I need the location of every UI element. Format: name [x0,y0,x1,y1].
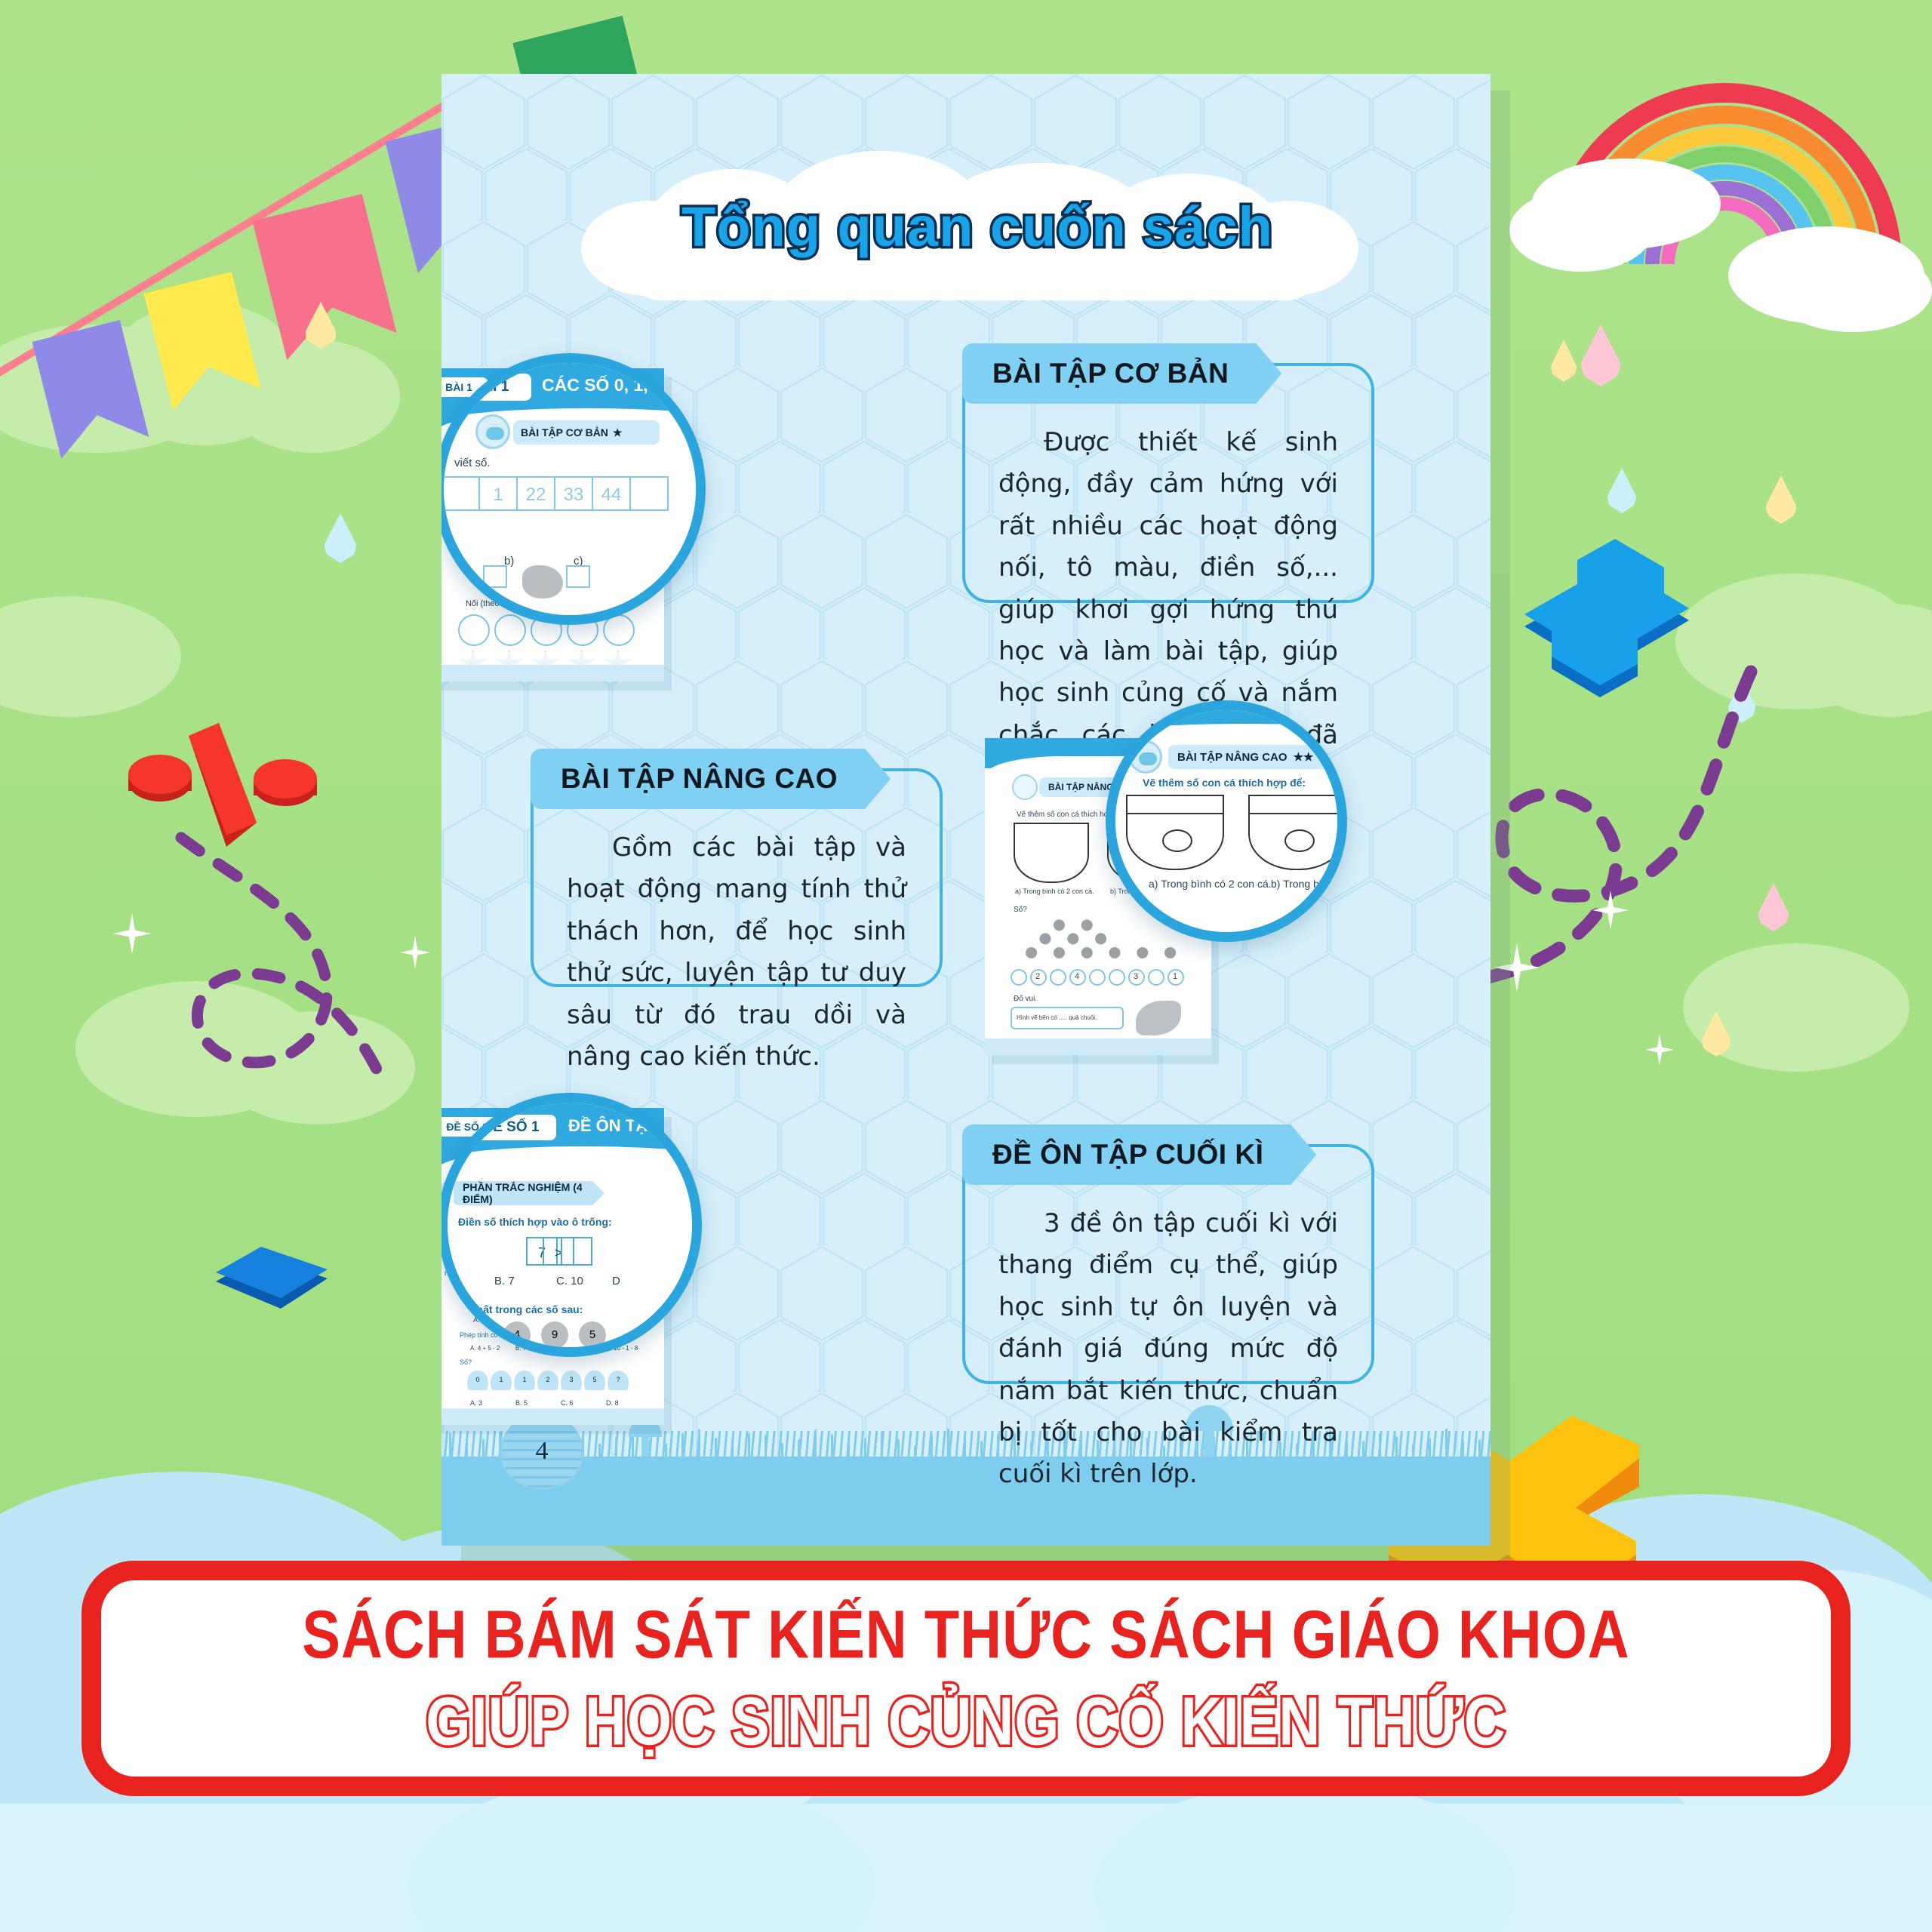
worksheet-count-circle [1050,969,1066,986]
magnified-badge: BÀI 1 [450,374,531,401]
card-tab-exam: ĐỀ ÔN TẬP CUỐI KÌ [962,1124,1316,1185]
worksheet-answer-a: a) Trong bình có 2 con cá. [1015,888,1094,895]
magnified-section: PHẦN TRẮC NGHIỆM (4 ĐIỂM) [463,1181,605,1205]
magnified-bee-mascot-icon [475,414,510,449]
magnified-task-2: nhất trong các số sau: [470,1303,583,1315]
magnified-answer-a: a) Trong bình có 2 con cá. [1149,878,1272,890]
worksheet-opt4-c: C. 6 [561,1399,574,1407]
bottom-banner: SÁCH BÁM SÁT KIẾN THỨC SÁCH GIÁO KHOA GI… [82,1561,1850,1796]
magnifier-content: BÀI 1 CÁC SỐ 0, 1, 2, BÀI TẬP CƠ BẢN ★ v… [444,363,706,625]
magnified-title: CÁC SỐ 0, 1, 2, [542,375,667,395]
magnified-task: Vẽ thêm số con cá thích hợp để: [1143,777,1306,789]
magnifier-basic: BÀI 1 CÁC SỐ 0, 1, 2, BÀI TẬP CƠ BẢN ★ v… [441,353,706,625]
magnified-number-2: 22 [516,476,555,511]
magnified-task: Điền số thích hợp vào ô trống: [458,1216,612,1228]
magnified-bee-mascot-icon [1129,740,1162,774]
card-tab-label: ĐỀ ÔN TẬP CUỐI KÌ [992,1139,1263,1171]
card-body-advanced: Gồm các bài tập và hoạt động mang tính t… [567,827,906,1078]
magnified-section: BÀI TẬP CƠ BẢN [521,426,608,438]
worksheet-circle-num-4: 4 [1075,972,1079,981]
magnified-compare-3 [561,1237,592,1266]
magnified-title: ĐỀ ÔN TẬP CU [568,1116,687,1136]
info-card-exam: ĐỀ ÔN TẬP CUỐI KÌ 3 đề ôn tập cuối kì vớ… [962,1144,1374,1384]
magnified-section: BÀI TẬP NÂNG CAO [1177,751,1287,764]
worksheet-count-circle [1089,969,1106,986]
worksheet-circle-num-2: 2 [1035,972,1040,981]
magnified-opt-d: D [612,1275,620,1287]
card-body-exam: 3 đề ôn tập cuối kì với thang điểm cụ th… [998,1203,1338,1496]
magnified-opt-b: B. 7 [494,1275,515,1287]
worksheet-opt4-d: D. 8 [606,1399,619,1407]
worksheet-circle-num-3: 3 [1134,972,1138,981]
banana-illustration [1136,1001,1181,1035]
magnifier-exam: ĐỀ SỐ 1 ĐỀ ÔN TẬP CU PHẦN TRẮC NGHIỆM (4… [441,1093,702,1357]
info-card-basic: BÀI TẬP CƠ BẢN Được thiết kế sinh động, … [962,363,1374,603]
magnifier-content: BÀI TẬP NÂNG CAO ★★ Vẽ thêm số con cá th… [1115,710,1347,942]
magnified-stars: ★★ [1294,750,1314,764]
magnified-fishbowl-b [1248,795,1346,870]
worksheet-grass [985,1038,1211,1055]
worksheet-match-circle [458,614,490,646]
info-card-advanced: BÀI TẬP NÂNG CAO Gồm các bài tập và hoạt… [531,768,943,987]
rainbow-cloud-right2 [1774,249,1932,332]
heart-4: 3 [561,1371,582,1390]
magnified-stars: ★ [613,426,623,439]
bee-mascot-icon [1012,774,1038,800]
magnifier-content: ĐỀ SỐ 1 ĐỀ ÔN TẬP CU PHẦN TRẮC NGHIỆM (4… [448,1103,702,1357]
fishbowl-icon-a [1014,823,1089,883]
banner-line-2: GIÚP HỌC SINH CỦNG CỐ KIẾN THỨC [426,1683,1506,1761]
card-tab-basic: BÀI TẬP CƠ BẢN [962,343,1281,404]
card-tab-label: BÀI TẬP NÂNG CAO [561,763,838,795]
worksheet-count-circle [1148,969,1164,986]
poster-stage: 4 Tổng quan cuốn sách BÀI TẬP CƠ BẢN Đượ… [0,0,1932,1932]
magnified-carrot-illustration [522,565,563,598]
worksheet-task-2: Số? [1014,906,1027,914]
bottom-cloud-band-light [0,1804,1932,1932]
heart-1: 1 [491,1371,512,1390]
magnified-answer-b: b) Trong bình [1271,878,1334,890]
worksheet-grass [441,1408,664,1425]
dashed-loop-curve-left [136,815,453,1132]
page-title: Tổng quan cuốn sách [615,195,1340,259]
magnified-task: viết số. [454,457,491,469]
page-number: 4 [500,1414,583,1489]
magnified-number-1: 1 [478,476,518,511]
rainbow-cloud-left2 [1509,189,1653,272]
magnified-number-3: 33 [554,476,593,511]
worksheet-task-3: Đố vui. [1014,995,1037,1003]
worksheet-opt4-b: B. 5 [515,1399,528,1407]
minus-sign-icon [211,1238,332,1321]
worksheet-opt4-a: A. 3 [470,1399,482,1407]
book-page: 4 Tổng quan cuốn sách BÀI TẬP CƠ BẢN Đượ… [441,74,1491,1546]
magnified-flower-2: 9 [541,1321,568,1349]
worksheet-match-circle [494,614,526,646]
magnifier-advanced: BÀI TẬP NÂNG CAO ★★ Vẽ thêm số con cá th… [1106,700,1347,942]
heart-2: 1 [514,1371,535,1390]
banner-line-1: SÁCH BÁM SÁT KIẾN THỨC SÁCH GIÁO KHOA [302,1596,1629,1674]
heart-row: 0 1 1 2 3 5 ? [467,1371,633,1393]
card-tab-advanced: BÀI TẬP NÂNG CAO [531,749,891,809]
worksheet-count-circle [1011,969,1027,986]
heart-6: ? [608,1371,629,1390]
magnified-flower-1: 4 [503,1321,531,1349]
worksheet-task-4: Số? [460,1358,472,1366]
magnified-opt-c: C. 10 [556,1275,583,1287]
card-tab-label: BÀI TẬP CƠ BẢN [992,358,1229,389]
magnified-flower-3: 5 [579,1321,606,1349]
worksheet-circle-num-1: 1 [1173,972,1177,981]
worksheet-count-circle [1109,969,1125,986]
heart-3: 2 [537,1371,558,1390]
magnified-fishbowl-a [1126,795,1224,870]
worksheet-grass [441,665,664,681]
heart-0: 0 [467,1371,488,1390]
magnified-badge: ĐỀ SỐ 1 [466,1115,556,1140]
worksheet-quiz-text: Hình vẽ bên có ..... quả chuối. [1017,1014,1097,1021]
heart-5: 5 [584,1371,605,1390]
magnified-number-4: 44 [592,476,631,511]
beehive-page-number: 4 [500,1414,583,1489]
